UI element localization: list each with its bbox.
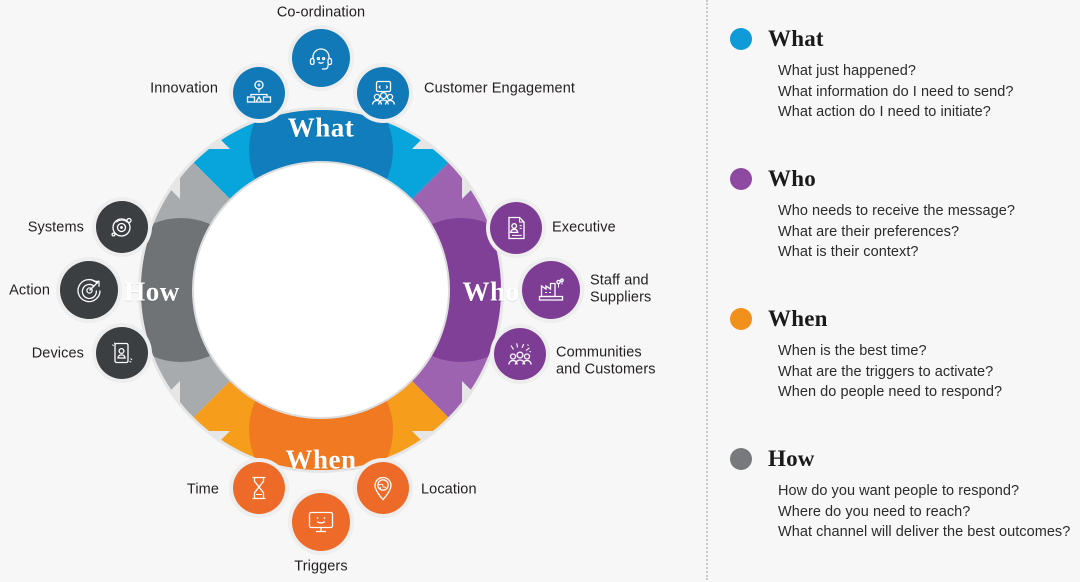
bubble-devices[interactable] [96,327,148,379]
spoke-label-triggers: Triggers [294,558,347,575]
wheel-panel: What Who When How Innovation [0,0,706,580]
legend-head-when: When [730,302,1080,336]
legend-panel: What What just happened? What informatio… [730,22,1080,582]
legend-title-who: Who [768,166,816,192]
staff-suppliers-factory-icon [536,275,566,305]
legend-dot-when-icon [730,308,752,330]
bubble-innovation[interactable] [233,67,285,119]
bubble-executive[interactable] [490,202,542,254]
bubble-time[interactable] [233,462,285,514]
monitor-trigger-icon [306,507,336,537]
legend-line: What are their preferences? [778,222,1080,243]
ring-hub [193,162,449,418]
bubble-communities-customers[interactable] [494,328,546,380]
legend-lines-who: Who needs to receive the message? What a… [778,201,1080,263]
legend-title-when: When [768,306,828,332]
spoke-label-action: Action [9,282,50,299]
legend-line: What are the triggers to activate? [778,362,1080,383]
vertical-dotted-divider [706,0,708,580]
location-pin-globe-icon [369,474,397,502]
legend-lines-when: When is the best time? What are the trig… [778,341,1080,403]
legend-line: What action do I need to initiate? [778,102,1080,123]
spoke-label-coordination: Co-ordination [277,4,365,21]
bubble-customer-engagement[interactable] [357,67,409,119]
legend-dot-who-icon [730,168,752,190]
legend-title-what: What [768,26,824,52]
bubble-staff-suppliers[interactable] [522,261,580,319]
customer-engagement-screen-icon [369,79,397,107]
legend-line: When do people need to respond? [778,382,1080,403]
legend-line: What is their context? [778,242,1080,263]
quadrant-label-what: What [288,113,355,144]
legend-line: How do you want people to respond? [778,481,1080,502]
spoke-label-devices: Devices [32,345,84,362]
spoke-label-executive: Executive [552,219,616,236]
quadrant-label-who: Who [462,277,519,308]
quadrant-label-how: How [124,277,180,308]
legend-title-how: How [768,446,815,472]
legend-block-when: When When is the best time? What are the… [730,302,1080,422]
innovation-org-chart-icon [245,79,273,107]
devices-mobile-icon [108,339,136,367]
legend-lines-how: How do you want people to respond? Where… [778,481,1080,543]
systems-orbit-icon [108,213,136,241]
legend-line: What channel will deliver the best outco… [778,522,1080,543]
bubble-triggers[interactable] [292,493,350,551]
legend-head-what: What [730,22,1080,56]
spoke-label-communities-customers: Communities and Customers [556,345,656,380]
bubble-action[interactable] [60,261,118,319]
legend-block-how: How How do you want people to respond? W… [730,442,1080,562]
legend-head-who: Who [730,162,1080,196]
legend-block-what: What What just happened? What informatio… [730,22,1080,142]
communities-customers-group-icon [506,340,534,368]
legend-block-who: Who Who needs to receive the message? Wh… [730,162,1080,282]
spoke-label-customer-engagement: Customer Engagement [424,80,575,97]
spoke-label-systems: Systems [28,219,84,236]
bubble-coordination[interactable] [292,29,350,87]
legend-dot-what-icon [730,28,752,50]
legend-lines-what: What just happened? What information do … [778,61,1080,123]
legend-dot-how-icon [730,448,752,470]
spoke-label-time: Time [187,481,219,498]
executive-document-icon [502,214,530,242]
hourglass-icon [245,474,273,502]
legend-line: When is the best time? [778,341,1080,362]
legend-line: Who needs to receive the message? [778,201,1080,222]
spoke-label-location: Location [421,481,477,498]
spoke-label-innovation: Innovation [150,80,218,97]
headset-support-icon [306,43,336,73]
action-target-icon [74,275,104,305]
spoke-label-staff-suppliers: Staff and Suppliers [590,273,651,308]
diagram-canvas: What Who When How Innovation [0,0,1080,580]
bubble-systems[interactable] [96,201,148,253]
legend-line: What information do I need to send? [778,82,1080,103]
legend-line: What just happened? [778,61,1080,82]
legend-head-how: How [730,442,1080,476]
bubble-location[interactable] [357,462,409,514]
quadrant-label-when: When [285,445,356,476]
legend-line: Where do you need to reach? [778,502,1080,523]
